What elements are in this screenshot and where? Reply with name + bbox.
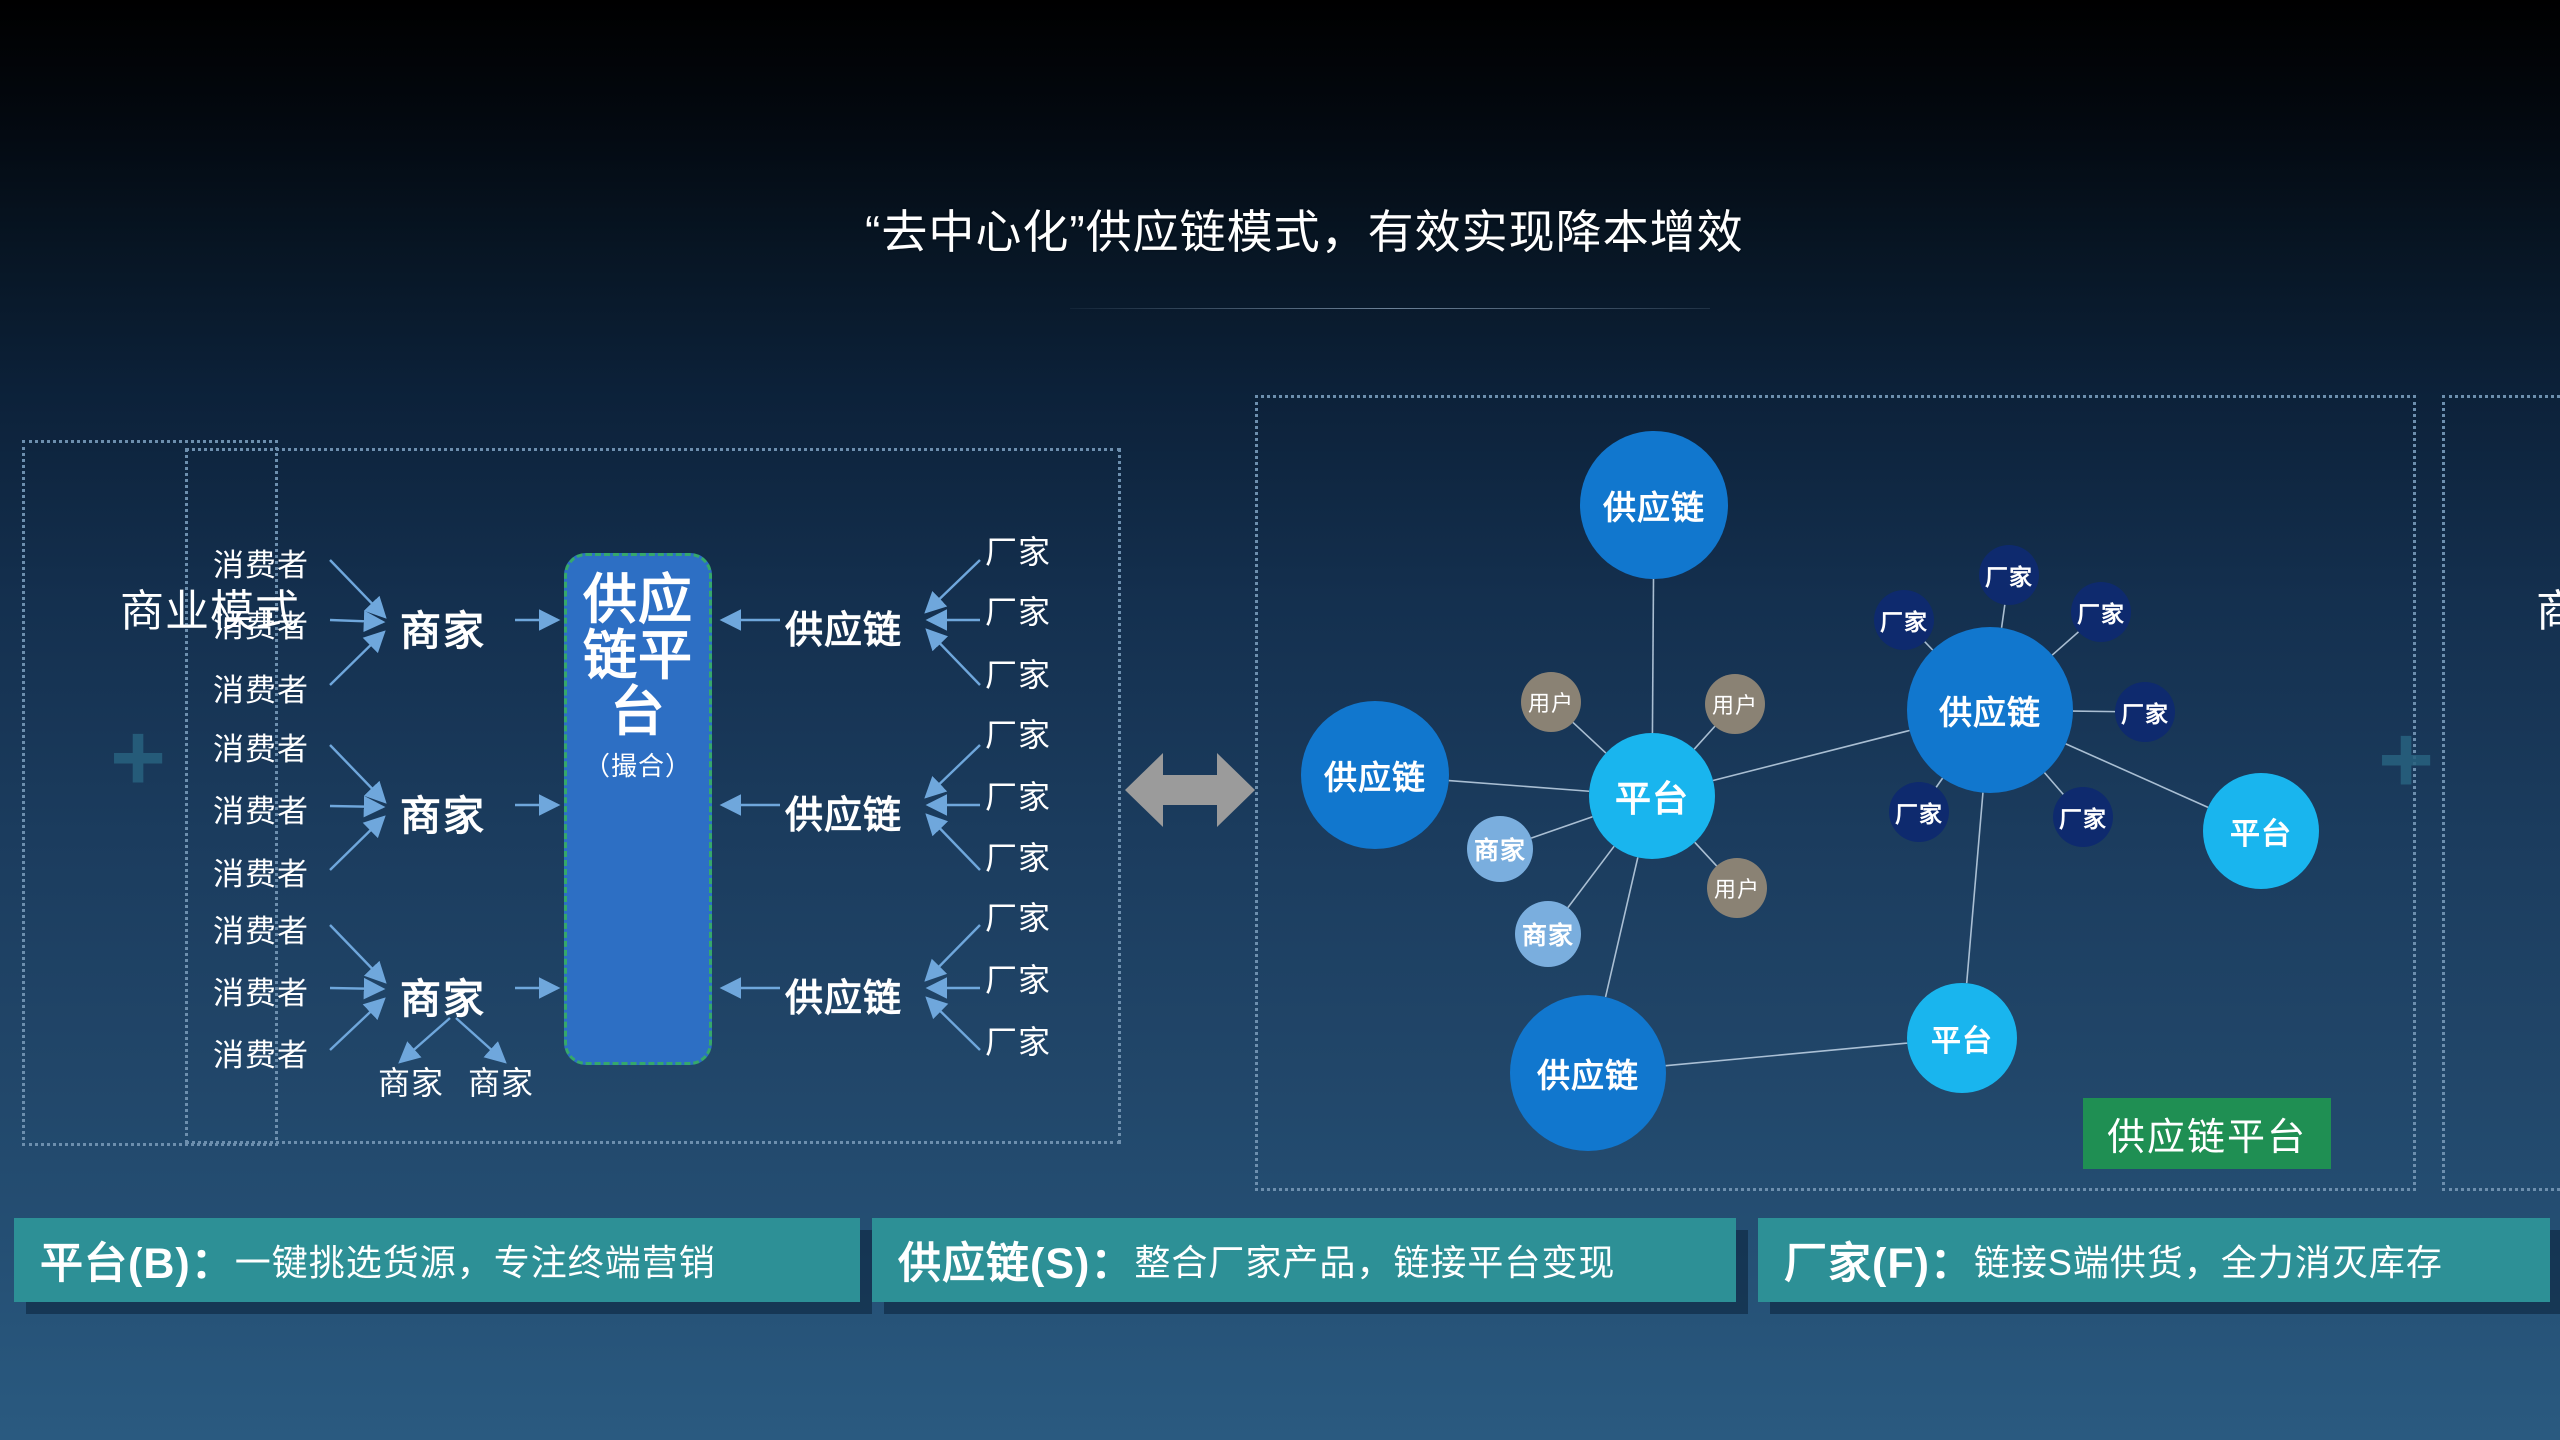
core-box-subtitle: （撮合） <box>584 746 692 783</box>
consumer-label: 消费者 <box>213 601 309 646</box>
factory-label: 厂家 <box>985 772 1051 818</box>
consumer-label: 消费者 <box>213 665 309 710</box>
network-node-chain[interactable]: 供应链 <box>1301 701 1449 849</box>
network-node-shop[interactable]: 商家 <box>1467 816 1533 882</box>
sub-merchant-label: 商家 <box>468 1058 534 1104</box>
network-node-factory[interactable]: 厂家 <box>1874 590 1934 650</box>
double-arrow-icon <box>1125 745 1255 835</box>
plus-icon-left: + <box>110 710 166 806</box>
factory-label: 厂家 <box>985 527 1051 573</box>
banner-platform[interactable]: 平台(B)： 一键挑选货源，专注终端营销 <box>14 1218 860 1302</box>
consumer-label: 消费者 <box>213 1030 309 1075</box>
supply-chain-label: 供应链 <box>785 967 902 1022</box>
network-node-factory[interactable]: 厂家 <box>2071 582 2131 642</box>
network-node-user[interactable]: 用户 <box>1707 858 1767 918</box>
factory-label: 厂家 <box>985 955 1051 1001</box>
supply-chain-platform-box[interactable]: 供应链平台 （撮合） <box>564 553 712 1065</box>
factory-label: 厂家 <box>985 650 1051 696</box>
network-node-factory[interactable]: 厂家 <box>1889 782 1949 842</box>
supply-chain-platform-badge: 供应链平台 <box>2083 1098 2331 1169</box>
network-node-chain[interactable]: 供应链 <box>1510 995 1666 1151</box>
factory-label: 厂家 <box>985 1017 1051 1063</box>
network-node-chain[interactable]: 供应链 <box>1907 627 2073 793</box>
banner-text: 链接S端供货，全力消灭库存 <box>1974 1234 2443 1286</box>
merchant-label: 商家 <box>400 965 486 1025</box>
network-node-platform[interactable]: 平台 <box>1907 983 2017 1093</box>
factory-label: 厂家 <box>985 893 1051 939</box>
banner-factory[interactable]: 厂家(F)： 链接S端供货，全力消灭库存 <box>1758 1218 2550 1302</box>
factory-label: 厂家 <box>985 587 1051 633</box>
network-node-factory[interactable]: 厂家 <box>1979 545 2039 605</box>
network-node-shop[interactable]: 商家 <box>1515 901 1581 967</box>
network-node-platform[interactable]: 平台 <box>2203 773 2319 889</box>
network-node-factory[interactable]: 厂家 <box>2115 682 2175 742</box>
factory-label: 厂家 <box>985 833 1051 879</box>
supply-chain-label: 供应链 <box>785 784 902 839</box>
banner-title: 厂家(F)： <box>1784 1229 1974 1291</box>
network-node-chain[interactable]: 供应链 <box>1580 431 1728 579</box>
banner-text: 整合厂家产品，链接平台变现 <box>1134 1234 1615 1286</box>
core-box-title: 供应链平台 <box>567 572 709 740</box>
banner-text: 一键挑选货源，专注终端营销 <box>235 1234 716 1286</box>
slide-canvas: “去中心化”供应链模式，有效实现降本增效 + + 商业模式 商 <box>0 0 2560 1440</box>
banner-title: 供应链(S)： <box>898 1229 1134 1291</box>
network-node-platform[interactable]: 平台 <box>1589 733 1715 859</box>
plus-icon-right: + <box>2378 712 2434 808</box>
title-underline <box>1070 308 1710 309</box>
consumer-label: 消费者 <box>213 540 309 585</box>
network-node-factory[interactable]: 厂家 <box>2053 787 2113 847</box>
outer-right-frame <box>2442 395 2560 1191</box>
sub-merchant-label: 商家 <box>378 1058 444 1104</box>
network-node-user[interactable]: 用户 <box>1521 672 1581 732</box>
consumer-label: 消费者 <box>213 786 309 831</box>
consumer-label: 消费者 <box>213 968 309 1013</box>
consumer-label: 消费者 <box>213 849 309 894</box>
network-node-user[interactable]: 用户 <box>1705 674 1765 734</box>
banner-title: 平台(B)： <box>40 1229 235 1291</box>
consumer-label: 消费者 <box>213 724 309 769</box>
merchant-label: 商家 <box>400 782 486 842</box>
page-title: “去中心化”供应链模式，有效实现降本增效 <box>865 205 1875 259</box>
merchant-label: 商家 <box>400 597 486 657</box>
consumer-label: 消费者 <box>213 906 309 951</box>
banner-supply-chain[interactable]: 供应链(S)： 整合厂家产品，链接平台变现 <box>872 1218 1736 1302</box>
right-edge-label: 商 <box>2536 575 2560 639</box>
supply-chain-label: 供应链 <box>785 599 902 654</box>
factory-label: 厂家 <box>985 710 1051 756</box>
